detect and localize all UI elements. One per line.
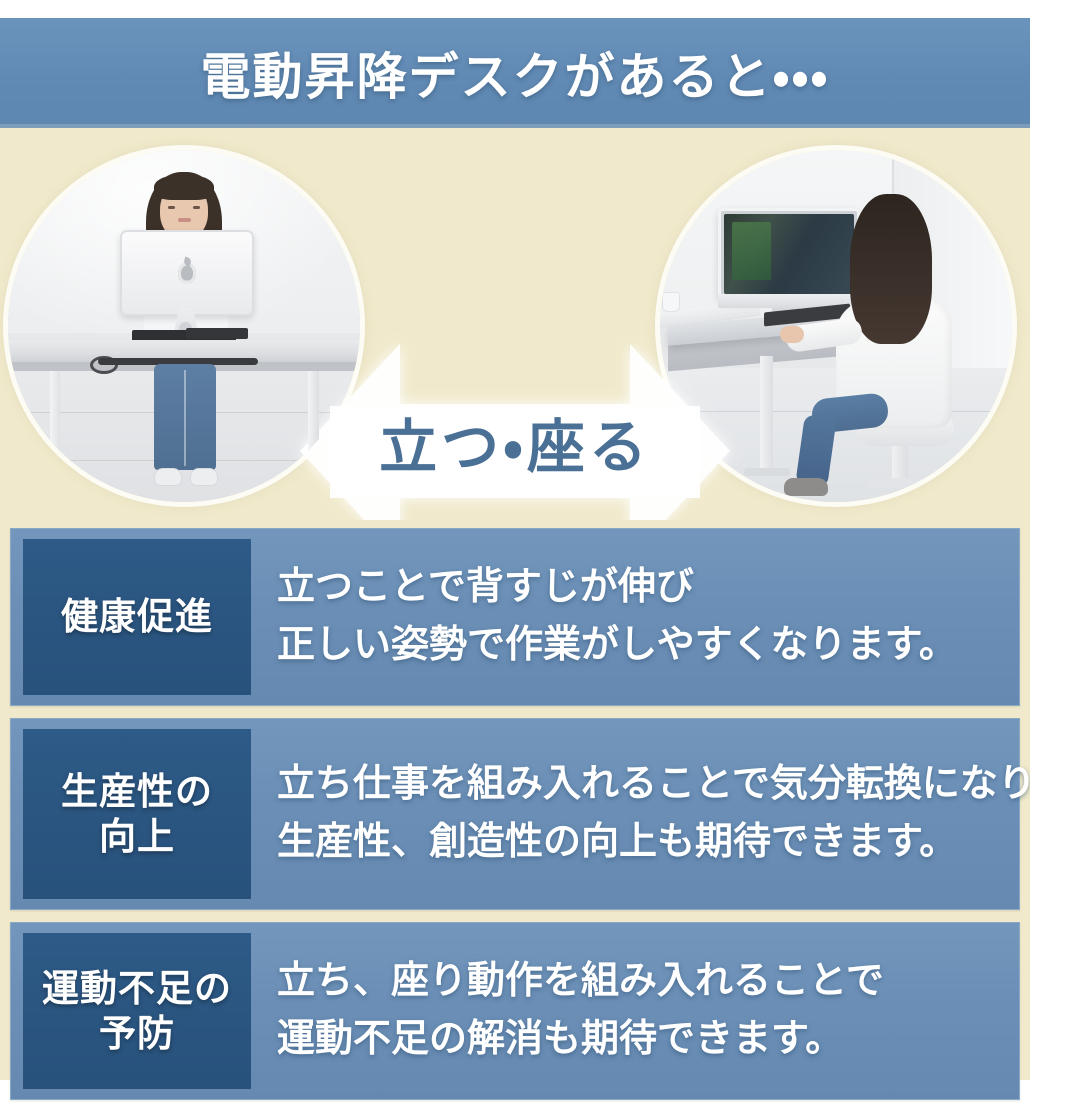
stool-base (866, 478, 940, 488)
keyboard-secondary (186, 328, 248, 339)
benefit-line: 生産性、創造性の向上も期待できます。 (277, 814, 1036, 872)
promo-banner: 電動昇降デスクがあると・・・ (0, 0, 1070, 1080)
benefit-line: 立ち仕事を組み入れることで気分転換になり (277, 756, 1036, 814)
benefit-label-text: 予防 (42, 1011, 232, 1056)
stool-column (892, 442, 908, 482)
benefit-line: 立ち、座り動作を組み入れることで (277, 953, 1007, 1011)
header-banner: 電動昇降デスクがあると・・・ (0, 18, 1030, 128)
benefits-list: 健康促進 立つことで背すじが伸び 正しい姿勢で作業がしやすくなります。 生産性の… (10, 528, 1020, 1112)
benefit-label: 運動不足の 予防 (23, 933, 251, 1089)
benefit-description: 立ち、座り動作を組み入れることで 運動不足の解消も期待できます。 (251, 923, 1019, 1099)
desk-foot (744, 468, 790, 476)
benefit-row: 健康促進 立つことで背すじが伸び 正しい姿勢で作業がしやすくなります。 (10, 528, 1020, 706)
benefit-line: 正しい姿勢で作業がしやすくなります。 (277, 617, 1007, 675)
benefit-label-text: 向上 (61, 814, 213, 859)
benefit-label-text: 健康促進 (61, 594, 213, 639)
hand (780, 326, 804, 343)
shoe (784, 478, 828, 496)
benefit-description: 立つことで背すじが伸び 正しい姿勢で作業がしやすくなります。 (251, 529, 1019, 705)
shoe-left (154, 468, 182, 486)
desk-foot-right (294, 472, 334, 479)
jeans (154, 364, 216, 470)
benefit-row: 生産性の 向上 立ち仕事を組み入れることで気分転換になり 生産性、創造性の向上も… (10, 718, 1020, 910)
imac-monitor (718, 208, 860, 300)
apple-logo-icon (178, 263, 196, 284)
shoe-right (190, 468, 218, 486)
imac-monitor (120, 230, 254, 316)
desk-leg-left (50, 371, 60, 471)
cup (662, 292, 680, 312)
benefit-line: 運動不足の解消も期待できます。 (277, 1011, 1007, 1069)
page-title: 電動昇降デスクがあると・・・ (201, 37, 830, 109)
benefit-row: 運動不足の 予防 立ち、座り動作を組み入れることで 運動不足の解消も期待できます… (10, 922, 1020, 1100)
monitor-screen (724, 214, 854, 294)
desk-leg-right (308, 371, 319, 475)
benefit-label: 健康促進 (23, 539, 251, 695)
desk-leg (760, 356, 773, 472)
top-white-margin (0, 0, 1070, 18)
benefit-description: 立ち仕事を組み入れることで気分転換になり 生産性、創造性の向上も期待できます。 (251, 719, 1048, 909)
benefit-label-text: 運動不足の (42, 966, 232, 1011)
benefit-line: 立つことで背すじが伸び (277, 559, 1007, 617)
right-white-margin (1030, 0, 1070, 1080)
hero-section: 立つ・座る を組み合わせることができる (0, 128, 1030, 520)
hair (850, 194, 932, 344)
benefit-label-text: 生産性の (61, 769, 213, 814)
face-features (168, 206, 200, 224)
hair-fringe (154, 174, 214, 200)
benefit-label: 生産性の 向上 (23, 729, 251, 899)
